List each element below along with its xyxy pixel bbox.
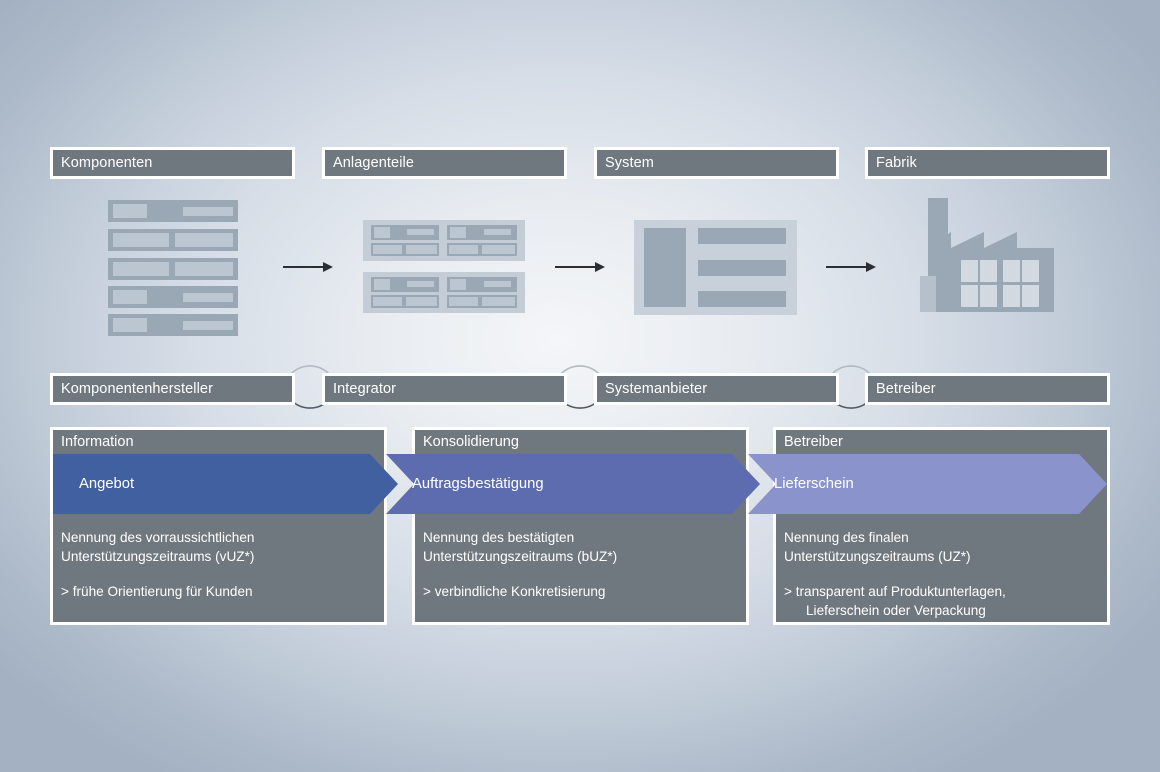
process-step-auftragsbestaetigung[interactable]: Auftragsbestätigung — [386, 454, 760, 514]
panel-body: Nennung des vorraussichtlichen Unterstüt… — [61, 528, 376, 601]
panel-title: Betreiber — [784, 434, 843, 450]
role-label: Systemanbieter — [605, 381, 707, 397]
panel-body: Nennung des finalen Unterstützungszeitra… — [784, 528, 1099, 620]
factory-icon — [920, 198, 1054, 314]
assembly-modules-icon — [363, 220, 525, 315]
panel-text-line1: Nennung des vorraussichtlichen — [61, 530, 254, 545]
stage-header-fabrik: Fabrik — [865, 147, 1110, 179]
panel-bullet-1-line1: > transparent auf Produktunterlagen, — [784, 584, 1006, 599]
panel-body: Nennung des bestätigten Unterstützungsze… — [423, 528, 738, 601]
role-label: Betreiber — [876, 381, 936, 397]
panel-text-line2: Unterstützungszeitraums (vUZ*) — [61, 549, 254, 564]
panel-bullet-1: > frühe Orientierung für Kunden — [61, 582, 376, 601]
process-step-angebot[interactable]: Angebot — [53, 454, 398, 514]
flow-arrow-1 — [283, 261, 333, 273]
panel-bullet-1: > verbindliche Konkretisierung — [423, 582, 738, 601]
stage-header-label: Anlagenteile — [333, 155, 414, 171]
panel-title: Konsolidierung — [423, 434, 519, 450]
process-step-label: Angebot — [53, 476, 134, 492]
stage-header-label: System — [605, 155, 654, 171]
stage-header-komponenten: Komponenten — [50, 147, 295, 179]
process-step-label: Lieferschein — [748, 476, 854, 492]
stage-header-system: System — [594, 147, 839, 179]
role-chip-betreiber: Betreiber — [865, 373, 1110, 405]
role-chip-komponentenhersteller: Komponentenhersteller — [50, 373, 295, 405]
stage-header-anlagenteile: Anlagenteile — [322, 147, 567, 179]
panel-text-line1: Nennung des bestätigten — [423, 530, 574, 545]
panel-bullet-1-line2: Lieferschein oder Verpackung — [795, 603, 986, 618]
component-list-icon — [108, 200, 238, 337]
role-label: Komponentenhersteller — [61, 381, 213, 397]
process-step-label: Auftragsbestätigung — [386, 476, 544, 492]
diagram-canvas: Komponenten Anlagenteile System Fabrik — [0, 0, 1160, 772]
role-chip-integrator: Integrator — [322, 373, 567, 405]
panel-text-line1: Nennung des finalen — [784, 530, 909, 545]
panel-text-line2: Unterstützungszeitraums (UZ*) — [784, 549, 971, 564]
stage-header-label: Komponenten — [61, 155, 152, 171]
flow-arrow-2 — [555, 261, 605, 273]
panel-text-line2: Unterstützungszeitraums (bUZ*) — [423, 549, 617, 564]
panel-bullet-1: > transparent auf Produktunterlagen, Lie… — [784, 582, 1099, 620]
role-label: Integrator — [333, 381, 396, 397]
factory-icon-svg — [920, 198, 1054, 314]
role-chip-systemanbieter: Systemanbieter — [594, 373, 839, 405]
flow-arrow-3 — [826, 261, 876, 273]
stage-header-label: Fabrik — [876, 155, 917, 171]
system-panel-icon — [634, 220, 797, 315]
panel-title: Information — [61, 434, 134, 450]
process-step-lieferschein[interactable]: Lieferschein — [748, 454, 1107, 514]
